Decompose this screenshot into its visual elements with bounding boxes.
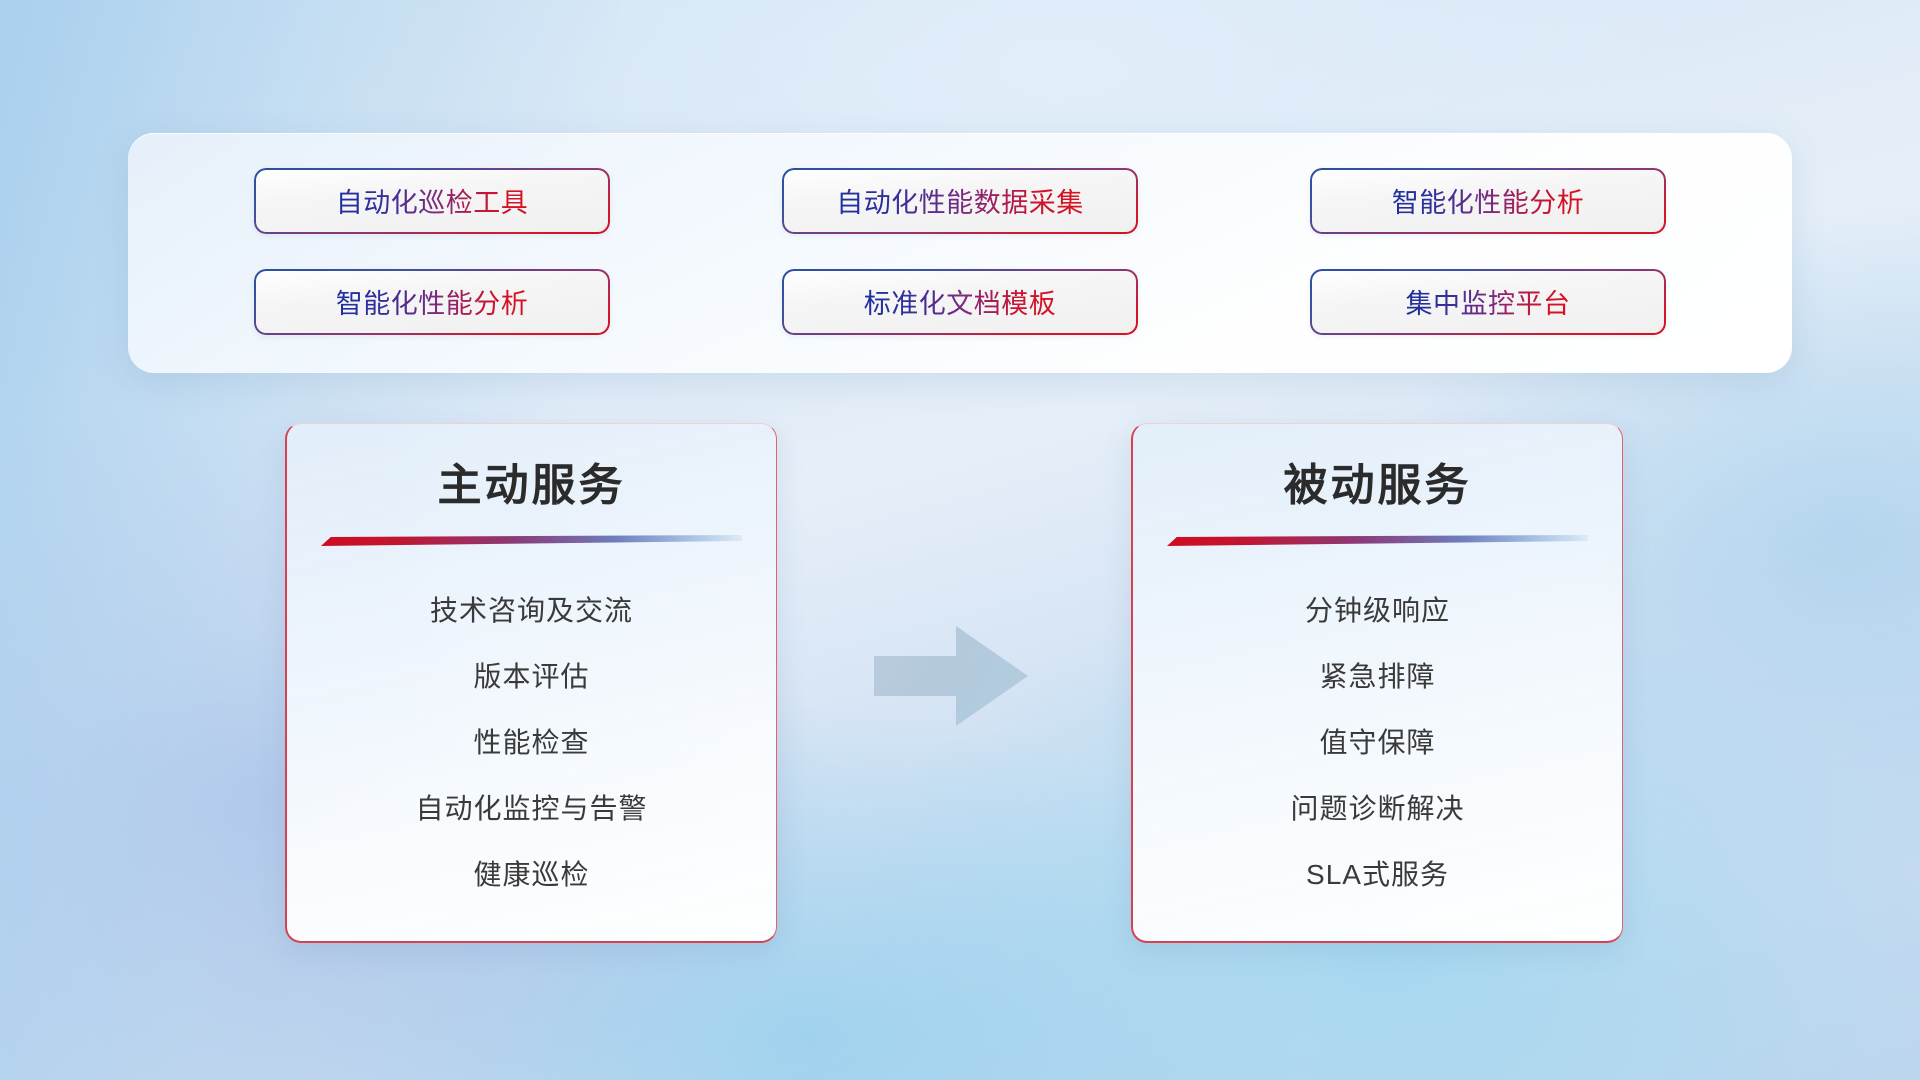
list-item: 性能检查	[473, 721, 589, 761]
tool-pill-label: 智能化性能分析	[1392, 181, 1585, 220]
arrow-right-icon	[870, 620, 1032, 732]
list-item: 值守保障	[1319, 721, 1435, 761]
tool-pill-3[interactable]: 智能化性能分析	[1310, 168, 1666, 234]
title-divider	[321, 535, 742, 547]
list-item: 健康巡检	[473, 853, 589, 893]
tool-pill-label: 集中监控平台	[1406, 282, 1571, 321]
tool-pill-5[interactable]: 标准化文档模板	[782, 269, 1138, 335]
card-item-list: 技术咨询及交流 版本评估 性能检查 自动化监控与告警 健康巡检	[317, 589, 746, 893]
service-card-proactive[interactable]: 主动服务 技术咨询及交流 版本评估 性能检查	[285, 423, 777, 943]
list-item: 自动化监控与告警	[415, 787, 647, 827]
tool-pill-6[interactable]: 集中监控平台	[1310, 269, 1666, 335]
tool-pill-label: 智能化性能分析	[336, 282, 529, 321]
card-title: 被动服务	[1163, 458, 1592, 513]
title-divider	[1167, 535, 1588, 547]
tool-pill-2[interactable]: 自动化性能数据采集	[782, 168, 1138, 234]
tool-pill-1[interactable]: 自动化巡检工具	[254, 168, 610, 234]
tool-pill-label: 自动化巡检工具	[336, 181, 529, 220]
list-item: 分钟级响应	[1305, 589, 1450, 629]
tool-pill-label: 标准化文档模板	[864, 282, 1057, 321]
service-card-reactive[interactable]: 被动服务 分钟级响应 紧急排障 值守保障	[1131, 423, 1623, 943]
tool-pill-label: 自动化性能数据采集	[836, 181, 1084, 220]
tools-panel: 自动化巡检工具 自动化性能数据采集 智能化性能分析 智能化性能分析 标准化文档模…	[128, 133, 1792, 373]
slide-canvas: 自动化巡检工具 自动化性能数据采集 智能化性能分析 智能化性能分析 标准化文档模…	[0, 0, 1920, 1080]
tool-pill-4[interactable]: 智能化性能分析	[254, 269, 610, 335]
list-item: SLA式服务	[1306, 853, 1449, 893]
list-item: 版本评估	[473, 655, 589, 695]
list-item: 紧急排障	[1319, 655, 1435, 695]
list-item: 技术咨询及交流	[430, 589, 633, 629]
list-item: 问题诊断解决	[1290, 787, 1464, 827]
card-item-list: 分钟级响应 紧急排障 值守保障 问题诊断解决 SLA式服务	[1163, 589, 1592, 893]
card-title: 主动服务	[317, 458, 746, 513]
